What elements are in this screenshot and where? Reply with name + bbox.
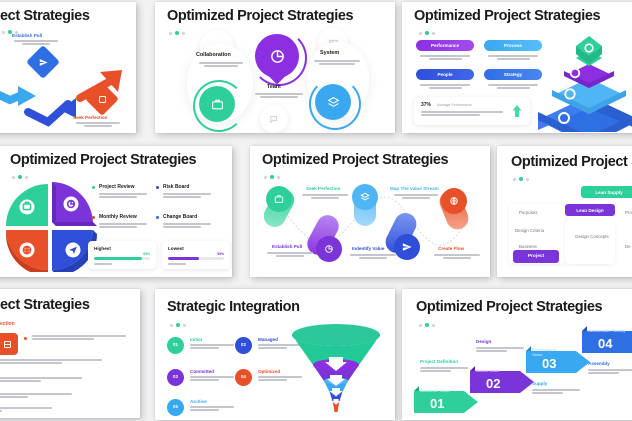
dot — [12, 176, 15, 179]
pin-map-value-stream[interactable] — [354, 186, 376, 226]
legend-body — [163, 223, 211, 229]
layers-icon — [359, 191, 371, 203]
pin-label-create-flow: Create Flow — [438, 246, 464, 251]
dot-active — [425, 323, 429, 327]
dot-active — [425, 31, 429, 35]
footer-body-1 — [0, 393, 72, 399]
meter-card-lowest[interactable]: Lowest 55% — [162, 241, 230, 269]
dot — [169, 32, 172, 35]
box-de[interactable]: De — [625, 244, 631, 249]
send-icon — [37, 56, 49, 68]
globe-icon — [448, 195, 460, 207]
pin-body-indentify-value — [350, 254, 396, 260]
node-establish-pull[interactable] — [31, 50, 55, 74]
legend-label: Project Review — [99, 184, 135, 190]
legend-label: Optimized — [258, 369, 280, 374]
pin-create-flow[interactable] — [443, 190, 465, 230]
node-label-establish-pull: Establish Pull — [12, 33, 42, 38]
slide-progress-dots — [419, 31, 435, 35]
meter-value: 85% — [143, 252, 150, 256]
pin-label-map-value-stream: Map The Value Stream — [390, 186, 439, 191]
dot — [183, 324, 186, 327]
legend-num: 05 — [167, 404, 184, 409]
slide-progress-dots — [264, 175, 280, 179]
arrow-up-icon — [510, 104, 524, 118]
node-label-team: Team — [267, 84, 281, 90]
chat-icon — [267, 112, 281, 126]
stat-body — [421, 111, 503, 117]
legend-num: 02 — [235, 342, 252, 347]
meter-label: Highest — [94, 246, 111, 251]
legend-label: Archive — [190, 399, 207, 404]
slide-4-card[interactable]: Optimized Project Strategies — [0, 146, 232, 277]
bullet-body — [0, 377, 82, 383]
pin-body-seek-perfection — [302, 194, 348, 200]
dot — [526, 178, 529, 181]
briefcase-icon — [209, 96, 225, 112]
grid-icon — [2, 339, 12, 349]
dot — [432, 324, 435, 327]
legend-body — [190, 376, 234, 382]
legend-label: Monthly Review — [99, 214, 137, 220]
meter-caption — [94, 263, 112, 266]
box-proce[interactable]: Proce — [625, 210, 632, 215]
legend-label: Change Board — [163, 214, 197, 220]
slide-progress-dots — [169, 31, 185, 35]
page-title: ect Strategies — [0, 297, 90, 313]
legend-body — [99, 193, 147, 199]
legend-dot — [156, 186, 159, 189]
box-design-concepts[interactable]: Design Concepts — [575, 234, 609, 240]
pill-performance[interactable]: Performance — [416, 40, 474, 51]
pin-body-establish-pull — [267, 252, 313, 258]
pill-people[interactable]: People — [416, 69, 474, 80]
dot-active — [270, 175, 274, 179]
slide-6-card[interactable]: Optimized Project St Lean Supply Purpose… — [497, 146, 632, 277]
node-label-seek-perfection: Seek Perfection — [73, 115, 107, 120]
node-seek-perfection[interactable] — [90, 87, 114, 111]
send-icon — [401, 241, 413, 253]
pill-body-people — [420, 84, 470, 90]
slide-progress-dots — [513, 177, 529, 181]
pyramid-chart[interactable] — [530, 24, 632, 132]
step-label-supply: Supply — [532, 381, 547, 386]
step-body-01 — [420, 367, 468, 373]
meter-card-highest[interactable]: Highest 85% — [88, 241, 156, 269]
page-title: Strategic Integration — [167, 299, 300, 315]
box-business[interactable]: Business — [519, 244, 537, 249]
step-tag-01: Customer Value — [420, 388, 450, 393]
footer-body-2 — [0, 407, 52, 413]
legend-label: Risk Board — [163, 184, 189, 190]
pin-indentify-value[interactable] — [390, 212, 412, 254]
slide-1-card[interactable]: ect Strategies Establish Pull — [0, 2, 136, 133]
node-body-seek-perfection — [76, 122, 120, 128]
meter-value: 55% — [217, 252, 224, 256]
node-label-collaboration: Collaboration — [196, 52, 231, 58]
step-num-02: 02 — [486, 376, 500, 391]
node-label-system: System — [320, 50, 339, 56]
page-title: Optimized Project Strategies — [167, 8, 353, 24]
dot — [419, 324, 422, 327]
node-body-collaboration — [199, 62, 243, 68]
box-lean-design[interactable]: Lean Design — [565, 204, 615, 216]
slide-gallery: ect Strategies Establish Pull — [0, 0, 632, 421]
legend-label: Committed — [190, 369, 214, 374]
page-title: Optimized Project St — [511, 154, 632, 170]
slide-progress-dots — [170, 323, 186, 327]
dot — [170, 324, 173, 327]
slide-9-card[interactable]: Optimized Project Strategies Customer Va… — [402, 289, 632, 420]
pin-body-create-flow — [434, 254, 480, 260]
dot — [25, 176, 28, 179]
layers-icon — [325, 94, 341, 110]
pin-label-establish-pull: Establish Pull — [272, 244, 302, 249]
slide-8-card[interactable]: Strategic Integration 01 Initial 03 Comm… — [155, 289, 395, 420]
meter-bar-fill — [168, 257, 199, 260]
slide-2-card[interactable]: Optimized Project Strategies Collaborati… — [155, 2, 395, 133]
pin-seek-perfection[interactable] — [268, 188, 290, 228]
legend-body — [99, 223, 147, 229]
dot — [432, 32, 435, 35]
meter-bar — [168, 257, 224, 260]
box-purposes[interactable]: Purposes — [519, 210, 538, 215]
legend-dot — [156, 216, 159, 219]
node-body-team — [255, 93, 303, 99]
step-label-assembly: Assembly — [588, 361, 610, 366]
step-label-design: Design — [476, 339, 491, 344]
legend-body — [190, 406, 234, 412]
slide-7-card[interactable]: ect Strategies ection — [0, 289, 140, 418]
legend-body — [163, 193, 211, 199]
section-subtitle: ection — [0, 321, 15, 327]
page-title: Optimized Project Strategies — [414, 8, 600, 24]
page-title: Optimized Project Strategies — [262, 152, 448, 168]
stat-value: 37% — [421, 102, 431, 108]
legend-body — [190, 344, 234, 350]
legend-num: 03 — [167, 374, 184, 379]
slide-progress-dots — [12, 175, 28, 179]
node-body-system — [314, 60, 360, 66]
step-body-03 — [532, 389, 580, 395]
step-body-04 — [588, 369, 632, 375]
meter-label: Lowest — [168, 246, 184, 251]
dot-active — [175, 31, 179, 35]
slide-5-card[interactable]: Optimized Project Strategies Seek Perfec… — [250, 146, 490, 277]
meter-bar — [94, 257, 150, 260]
matrix-column-mid — [565, 220, 615, 264]
dot-active — [176, 323, 180, 327]
pill-body-performance — [420, 55, 470, 61]
slide-progress-dots — [419, 323, 435, 327]
bullet-dot — [24, 337, 27, 340]
dot — [182, 32, 185, 35]
legend-label: Initial — [190, 337, 202, 342]
step-label-project-definition: Project Definition — [420, 359, 458, 364]
box-lean-supply[interactable]: Lean Supply — [581, 186, 632, 198]
step-tag-02: Social Value — [476, 368, 499, 373]
slide-3-card[interactable]: Optimized Project Strategies Performance… — [402, 2, 632, 133]
step-num-03: 03 — [542, 356, 556, 371]
pin-label-seek-perfection: Seek Perfection — [306, 186, 340, 191]
stat-card[interactable]: 37% Average Performance — [414, 97, 530, 125]
box-design-criteria[interactable]: Design Criteria — [515, 228, 544, 233]
dot — [264, 176, 267, 179]
grid-icon — [96, 93, 108, 105]
dot — [513, 178, 516, 181]
bullet-body — [32, 335, 126, 341]
funnel-chart[interactable] — [283, 321, 389, 417]
pie-chart-icon — [323, 243, 335, 255]
stat-caption: Average Performance — [437, 103, 472, 107]
step-tag-04: Sustainable Facility — [588, 328, 625, 333]
step-num-01: 01 — [430, 396, 444, 411]
bullet-body — [0, 359, 102, 365]
meter-bar-fill — [94, 257, 142, 260]
pin-body-map-value-stream — [394, 194, 438, 200]
page-title: ect Strategies — [0, 8, 90, 24]
dot-active — [519, 177, 523, 181]
legend-num: 01 — [167, 342, 184, 347]
briefcase-icon — [273, 193, 285, 205]
pin-establish-pull[interactable] — [312, 214, 334, 256]
page-title: Optimized Project Strategies — [10, 152, 196, 168]
box-project[interactable]: Project — [513, 250, 559, 263]
dot — [419, 32, 422, 35]
page-title: Optimized Project Strategies — [416, 299, 602, 315]
node-body-establish-pull — [14, 40, 58, 46]
pin-label-indentify-value: Indentify Value — [352, 246, 384, 251]
legend-num: 04 — [235, 374, 252, 379]
legend-label: Managed — [258, 337, 278, 342]
step-body-02 — [476, 347, 524, 353]
step-num-04: 04 — [598, 336, 612, 351]
pie-chart-icon — [267, 46, 287, 66]
dot — [277, 176, 280, 179]
dot-active — [18, 175, 22, 179]
meter-caption — [168, 263, 186, 266]
